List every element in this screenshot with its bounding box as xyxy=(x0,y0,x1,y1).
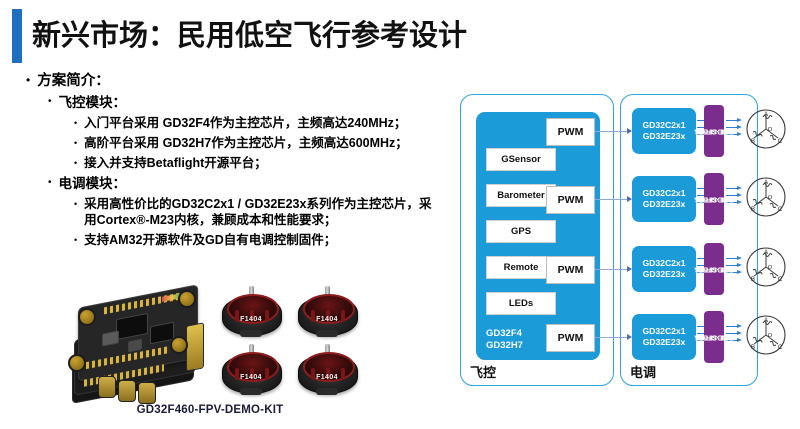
pwm-output-2: PWM xyxy=(546,186,595,214)
system-block-diagram: 飞控 GSensor Barometer GPS Remote LEDs GD3… xyxy=(452,88,800,398)
side-connector-icon xyxy=(186,322,204,371)
bullet-heading-label: 方案简介： xyxy=(37,72,438,90)
motor-base xyxy=(316,388,338,395)
mount-grommet-icon xyxy=(178,290,196,308)
motors-image-group: F1404 F1404 xyxy=(218,282,370,400)
bullet-dot-icon: • xyxy=(48,94,52,107)
pre-driver-line2: MOSFET xyxy=(699,195,729,204)
pre-driver-mosfet-2: PRE-DRV & MOSFET xyxy=(704,173,724,225)
bullet-item-text: 支持AM32开源软件及GD自有电调控制固件； xyxy=(84,232,438,248)
bullet-dot-icon: • xyxy=(74,135,77,148)
esc-mcu-line1: GD32C2x1 xyxy=(643,258,686,269)
title-accent-bar xyxy=(12,9,22,63)
bullet-dot-icon: • xyxy=(26,72,30,86)
bullet-dot-icon: • xyxy=(74,196,77,209)
pre-driver-line2: MOSFET xyxy=(699,127,729,136)
motor-label: F1404 xyxy=(228,374,274,381)
section-label: 飞控模块： xyxy=(59,94,438,112)
esc-mcu-line1: GD32C2x1 xyxy=(643,188,686,199)
esc-mcu-block-4: GD32C2x1 GD32E23x xyxy=(632,314,696,360)
esc-mcu-line2: GD32E23x xyxy=(643,269,686,280)
connector-line xyxy=(593,199,631,200)
esc-mcu-block-2: GD32C2x1 GD32E23x xyxy=(632,176,696,222)
section-label: 电调模块： xyxy=(59,175,438,193)
capacitor-icon xyxy=(98,376,116,398)
motor-label: F1404 xyxy=(304,374,350,381)
bldc-motor-icon-3: A B C O xyxy=(744,245,788,289)
motor-base xyxy=(316,330,338,337)
fc-mcu-line2: GD32H7 xyxy=(486,340,523,352)
fc-mcu-label: GD32F4 GD32H7 xyxy=(486,328,523,352)
sensor-leds: LEDs xyxy=(486,292,556,315)
bullet-heading: • 方案简介： xyxy=(26,72,438,90)
pre-driver-line2: MOSFET xyxy=(699,333,729,342)
svg-text:B: B xyxy=(751,345,755,351)
bullet-item: • 采用高性价比的GD32C2x1 / GD32E23x系列作为主控芯片，采用C… xyxy=(74,196,438,228)
svg-text:A: A xyxy=(764,250,768,256)
motor-base xyxy=(240,388,262,395)
motor-label: F1404 xyxy=(304,316,350,323)
pwm-output-1: PWM xyxy=(546,118,595,146)
pre-driver-mosfet-3: PRE-DRV & MOSFET xyxy=(704,243,724,295)
esc-mcu-line1: GD32C2x1 xyxy=(643,326,686,337)
content-bullets: • 方案简介： • 飞控模块： • 入门平台采用 GD32F4作为主控芯片，主频… xyxy=(18,72,438,252)
svg-text:O: O xyxy=(768,333,773,339)
bullet-section-esc: • 电调模块： xyxy=(48,175,438,193)
mount-grommet-icon xyxy=(170,336,188,354)
pwm-output-3: PWM xyxy=(546,256,595,284)
esc-mcu-block-1: GD32C2x1 GD32E23x xyxy=(632,108,696,154)
sensor-gps: GPS xyxy=(486,220,556,243)
flight-controller-block: GSensor Barometer GPS Remote LEDs GD32F4… xyxy=(476,112,600,360)
svg-text:O: O xyxy=(768,265,773,271)
page-title: 新兴市场：民用低空飞行参考设计 xyxy=(32,14,467,58)
esc-mcu-block-3: GD32C2x1 GD32E23x xyxy=(632,246,696,292)
motor-image: F1404 xyxy=(218,344,284,396)
svg-text:A: A xyxy=(764,180,768,186)
connector-line xyxy=(593,269,631,270)
bldc-motor-icon-1: A B C O xyxy=(744,107,788,151)
bullet-item: • 入门平台采用 GD32F4作为主控芯片，主频高达240MHz； xyxy=(74,115,438,131)
esc-mcu-line2: GD32E23x xyxy=(643,131,686,142)
motor-label: F1404 xyxy=(228,316,274,323)
product-photo: F1404 F1404 xyxy=(50,282,370,402)
kit-caption: GD32F460-FPV-DEMO-KIT xyxy=(50,404,370,416)
bullet-dot-icon: • xyxy=(48,175,52,188)
bldc-motor-icon-4: A B C O xyxy=(744,313,788,357)
capacitor-icon xyxy=(118,380,136,402)
fc-mcu-line1: GD32F4 xyxy=(486,328,523,340)
svg-text:O: O xyxy=(768,127,773,133)
bullet-section-fc: • 飞控模块： xyxy=(48,94,438,112)
svg-text:C: C xyxy=(778,345,783,351)
esc-mcu-line1: GD32C2x1 xyxy=(643,120,686,131)
motor-image: F1404 xyxy=(294,344,360,396)
pre-driver-mosfet-1: PRE-DRV & MOSFET xyxy=(704,105,724,157)
svg-text:A: A xyxy=(764,318,768,324)
esc-mcu-line2: GD32E23x xyxy=(643,199,686,210)
pre-driver-line2: MOSFET xyxy=(699,265,729,274)
bullet-item-text: 采用高性价比的GD32C2x1 / GD32E23x系列作为主控芯片，采用Cor… xyxy=(84,196,438,228)
bullet-item-text: 入门平台采用 GD32F4作为主控芯片，主频高达240MHz； xyxy=(84,115,438,131)
capacitor-icon xyxy=(138,382,156,404)
bullet-item: • 接入并支持Betaflight开源平台； xyxy=(74,155,438,171)
svg-text:B: B xyxy=(751,139,755,145)
esc-mcu-line2: GD32E23x xyxy=(643,337,686,348)
bullet-dot-icon: • xyxy=(74,155,77,168)
slide-root: 新兴市场：民用低空飞行参考设计 • 方案简介： • 飞控模块： • 入门平台采用… xyxy=(0,0,800,429)
svg-text:B: B xyxy=(751,207,755,213)
bullet-item-text: 高阶平台采用 GD32H7作为主控芯片，主频高达600MHz； xyxy=(84,135,438,151)
bullet-dot-icon: • xyxy=(74,115,77,128)
bldc-motor-icon-2: A B C O xyxy=(744,175,788,219)
connector-line xyxy=(593,131,631,132)
motor-base xyxy=(240,330,262,337)
pwm-output-4: PWM xyxy=(546,324,595,352)
mount-grommet-icon xyxy=(68,354,86,372)
motor-image: F1404 xyxy=(294,286,360,338)
pre-driver-mosfet-4: PRE-DRV & MOSFET xyxy=(704,311,724,363)
bullet-item-text: 接入并支持Betaflight开源平台； xyxy=(84,155,438,171)
esc-group-label: 电调 xyxy=(630,362,656,381)
bullet-item: • 支持AM32开源软件及GD自有电调控制固件； xyxy=(74,232,438,248)
svg-text:A: A xyxy=(764,112,768,118)
flight-controller-stack-image xyxy=(58,288,208,396)
svg-text:O: O xyxy=(768,195,773,201)
bullet-dot-icon: • xyxy=(74,232,77,245)
svg-text:B: B xyxy=(751,277,755,283)
connector-line xyxy=(593,337,631,338)
flight-controller-group-label: 飞控 xyxy=(470,362,496,381)
svg-text:C: C xyxy=(778,277,783,283)
bullet-item: • 高阶平台采用 GD32H7作为主控芯片，主频高达600MHz； xyxy=(74,135,438,151)
svg-text:C: C xyxy=(778,139,783,145)
svg-text:C: C xyxy=(778,207,783,213)
mount-grommet-icon xyxy=(78,308,96,326)
sensor-gsensor: GSensor xyxy=(486,148,556,171)
motor-image: F1404 xyxy=(218,286,284,338)
